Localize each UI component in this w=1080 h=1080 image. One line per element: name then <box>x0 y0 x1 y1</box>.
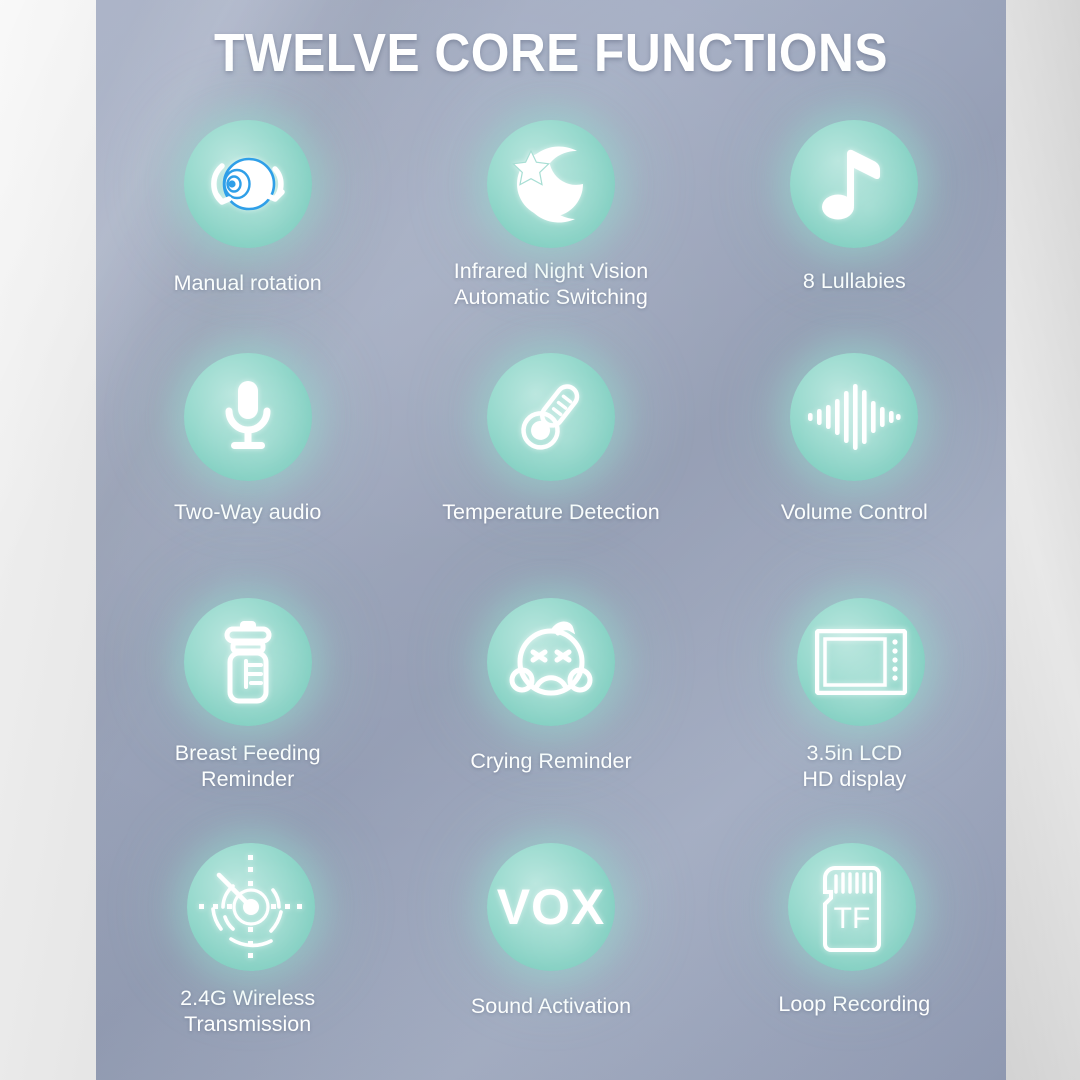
baby-bottle-icon <box>213 619 283 705</box>
icon-bubble <box>790 353 918 481</box>
feature-label: Crying Reminder <box>470 748 631 774</box>
screenshot-stage: TWELVE CORE FUNCTIONS Manual rotation <box>0 0 1080 1080</box>
feature-lcd-display[interactable]: 3.5in LCD HD display <box>703 598 1006 843</box>
music-note-icon <box>821 144 887 224</box>
icon-bubble <box>790 120 918 248</box>
feature-label: Two-Way audio <box>174 499 321 525</box>
monitor-icon <box>815 629 907 695</box>
feature-breast-feeding-reminder[interactable]: Breast Feeding Reminder <box>96 598 399 843</box>
feature-sound-activation[interactable]: VOX Sound Activation <box>399 843 702 1080</box>
icon-bubble: VOX <box>487 843 615 971</box>
features-panel: TWELVE CORE FUNCTIONS Manual rotation <box>96 0 1006 1080</box>
tf-card-label: TF <box>834 902 871 935</box>
feature-label: 3.5in LCD HD display <box>802 740 906 792</box>
page-title: TWELVE CORE FUNCTIONS <box>132 22 969 84</box>
feature-two-way-audio[interactable]: Two-Way audio <box>96 353 399 598</box>
icon-bubble <box>487 353 615 481</box>
vox-text-icon: VOX <box>497 878 606 936</box>
feature-label: 8 Lullabies <box>803 268 906 294</box>
feature-label: 2.4G Wireless Transmission <box>180 985 315 1037</box>
feature-label: Volume Control <box>781 499 928 525</box>
icon-bubble: TF <box>788 843 916 971</box>
feature-label: Loop Recording <box>778 991 930 1017</box>
feature-wireless-transmission[interactable]: 2.4G Wireless Transmission <box>96 843 399 1080</box>
icon-bubble <box>187 843 315 971</box>
waveform-icon <box>806 381 902 453</box>
icon-bubble <box>797 598 925 726</box>
feature-label: Temperature Detection <box>442 499 660 525</box>
feature-lullabies[interactable]: 8 Lullabies <box>703 108 1006 353</box>
feature-label: Sound Activation <box>471 993 631 1019</box>
feature-night-vision[interactable]: Infrared Night Vision Automatic Switchin… <box>399 108 702 353</box>
feature-label: Breast Feeding Reminder <box>175 740 321 792</box>
feature-loop-recording[interactable]: TF Loop Recording <box>703 843 1006 1080</box>
feature-crying-reminder[interactable]: Crying Reminder <box>399 598 702 843</box>
icon-bubble <box>184 120 312 248</box>
feature-label: Infrared Night Vision Automatic Switchin… <box>454 258 648 310</box>
feature-label: Manual rotation <box>174 270 322 296</box>
moon-star-icon <box>509 143 593 225</box>
features-grid: Manual rotation Infrared Night Vision Au… <box>96 108 1006 1068</box>
thermometer-icon <box>511 377 591 457</box>
icon-bubble <box>487 598 615 726</box>
crying-baby-icon <box>507 620 595 704</box>
icon-bubble <box>184 598 312 726</box>
tf-card-icon: TF <box>815 862 889 952</box>
microphone-icon <box>216 377 280 457</box>
feature-volume-control[interactable]: Volume Control <box>703 353 1006 598</box>
icon-bubble <box>487 120 615 248</box>
icon-bubble <box>184 353 312 481</box>
camera-rotation-icon <box>205 147 291 221</box>
feature-manual-rotation[interactable]: Manual rotation <box>96 108 399 353</box>
feature-temperature-detection[interactable]: Temperature Detection <box>399 353 702 598</box>
radar-icon <box>195 851 307 963</box>
